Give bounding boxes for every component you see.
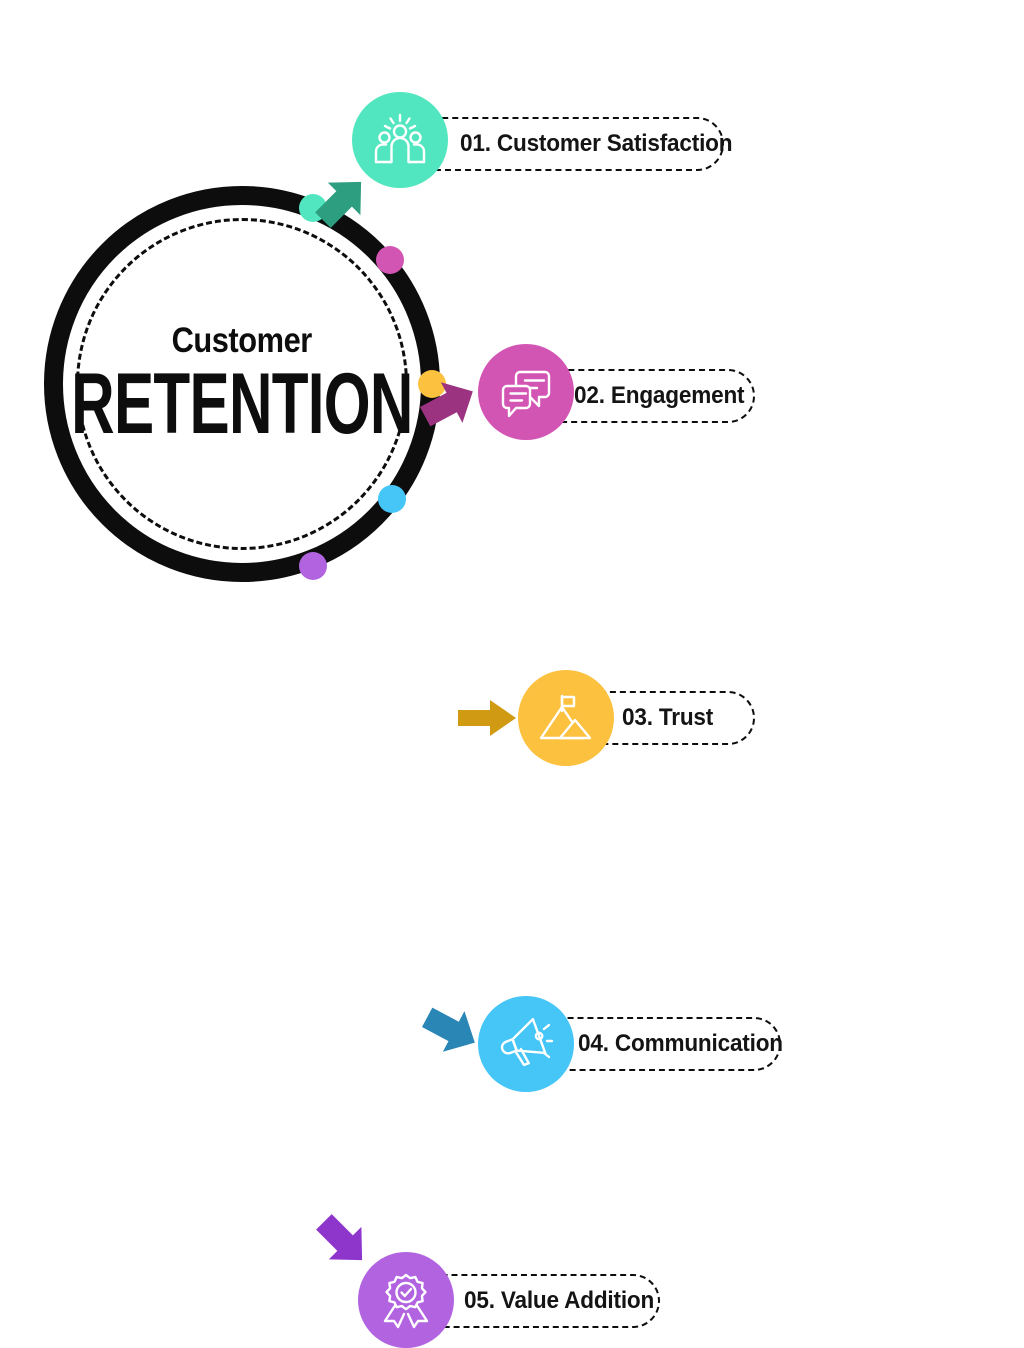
arrow-05: [312, 1212, 374, 1270]
ring-dot-04[interactable]: [378, 485, 406, 513]
mountain-flag-icon: [537, 689, 595, 747]
center-title: RETENTION: [71, 364, 413, 446]
megaphone-icon: [497, 1015, 555, 1073]
icon-circle-02[interactable]: [478, 344, 574, 440]
label-text-03: 03. Trust: [622, 704, 713, 732]
label-text-02: 02. Engagement: [574, 382, 744, 410]
people-group-satisfaction-icon: [370, 110, 430, 170]
arrow-01: [311, 172, 373, 230]
label-text-01: 01. Customer Satisfaction: [460, 130, 732, 158]
ring-dot-05[interactable]: [299, 552, 327, 580]
icon-circle-04[interactable]: [478, 996, 574, 1092]
central-ring: Customer RETENTION: [44, 186, 440, 582]
arrow-02: [418, 375, 480, 433]
icon-circle-05[interactable]: [358, 1252, 454, 1348]
arrow-04: [420, 1001, 482, 1059]
label-text-05: 05. Value Addition: [464, 1287, 654, 1315]
infographic-canvas: Customer RETENTION 01. Customer Satisfac…: [0, 0, 1024, 768]
ring-dot-02[interactable]: [376, 246, 404, 274]
center-subtitle: Customer: [172, 323, 312, 358]
label-text-04: 04. Communication: [578, 1030, 783, 1058]
icon-circle-01[interactable]: [352, 92, 448, 188]
speech-bubbles-icon: [497, 363, 555, 421]
icon-circle-03[interactable]: [518, 670, 614, 766]
arrow-03: [456, 698, 518, 738]
award-ribbon-check-icon: [377, 1271, 435, 1329]
center-title-block: Customer RETENTION: [44, 186, 440, 582]
